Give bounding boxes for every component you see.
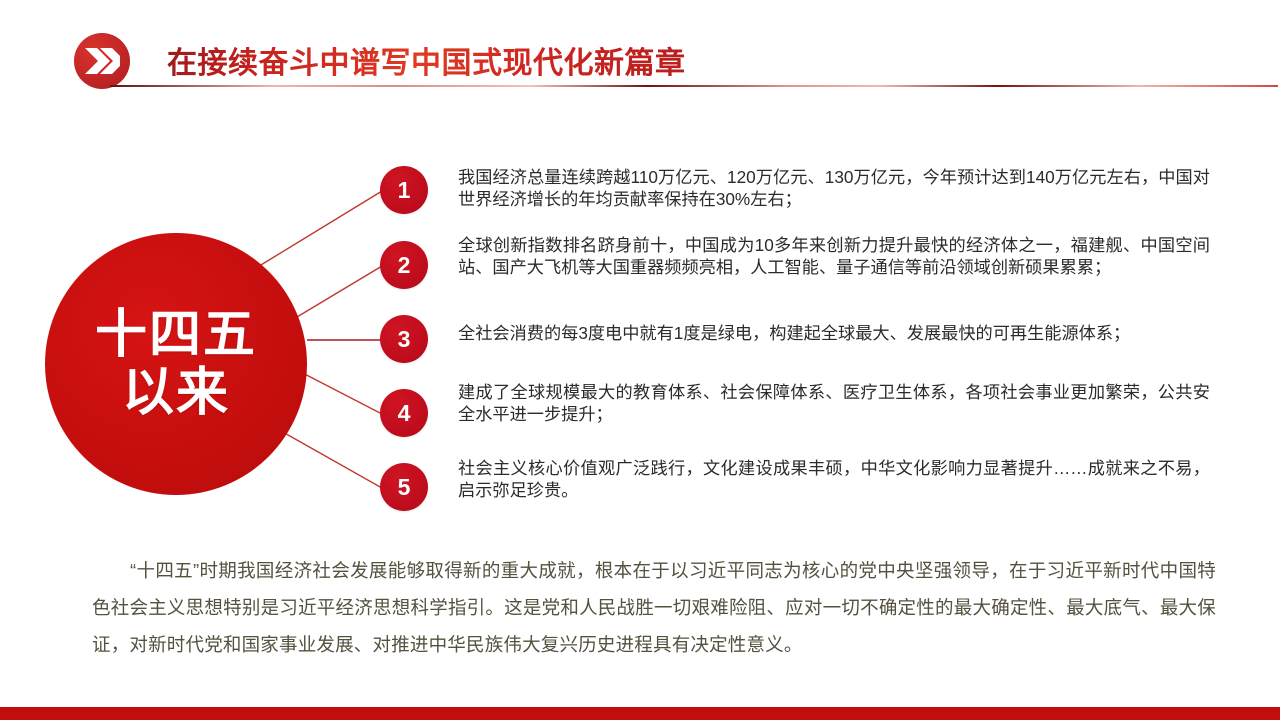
item-number-2: 2 (398, 252, 411, 279)
page-title: 在接续奋斗中谱写中国式现代化新篇章 (167, 38, 686, 82)
item-number-3: 3 (398, 326, 411, 353)
item-number-4: 4 (398, 400, 411, 427)
item-text-5: 社会主义核心价值观广泛践行，文化建设成果丰硕，中华文化影响力显著提升……成就来之… (458, 457, 1210, 501)
item-number-1: 1 (398, 177, 411, 204)
summary-paragraph: “十四五”时期我国经济社会发展能够取得新的重大成就，根本在于以习近平同志为核心的… (92, 552, 1216, 663)
footer-accent-bar (0, 707, 1280, 720)
item-text-4: 建成了全球规模最大的教育体系、社会保障体系、医疗卫生体系，各项社会事业更加繁荣，… (458, 381, 1210, 425)
slide-header: 在接续奋斗中谱写中国式现代化新篇章 (0, 0, 1280, 100)
item-number-badge-5[interactable]: 5 (380, 463, 428, 511)
hub-circle: 十四五 以来 (45, 233, 307, 495)
item-number-badge-4[interactable]: 4 (380, 389, 428, 437)
item-number-5: 5 (398, 474, 411, 501)
header-badge (74, 33, 130, 89)
hub-label-line1: 十四五 (95, 306, 257, 364)
item-number-badge-3[interactable]: 3 (380, 315, 428, 363)
header-divider (110, 85, 1278, 87)
item-text-2: 全球创新指数排名跻身前十，中国成为10多年来创新力提升最快的经济体之一，福建舰、… (458, 234, 1210, 278)
hub-label-line2: 以来 (122, 364, 230, 422)
item-number-badge-2[interactable]: 2 (380, 241, 428, 289)
item-number-badge-1[interactable]: 1 (380, 166, 428, 214)
item-text-3: 全社会消费的每3度电中就有1度是绿电，构建起全球最大、发展最快的可再生能源体系； (458, 322, 1210, 344)
achievements-diagram: 十四五 以来 1 我国经济总量连续跨越110万亿元、120万亿元、130万亿元，… (0, 100, 1280, 540)
item-text-1: 我国经济总量连续跨越110万亿元、120万亿元、130万亿元，今年预计达到140… (458, 166, 1210, 210)
